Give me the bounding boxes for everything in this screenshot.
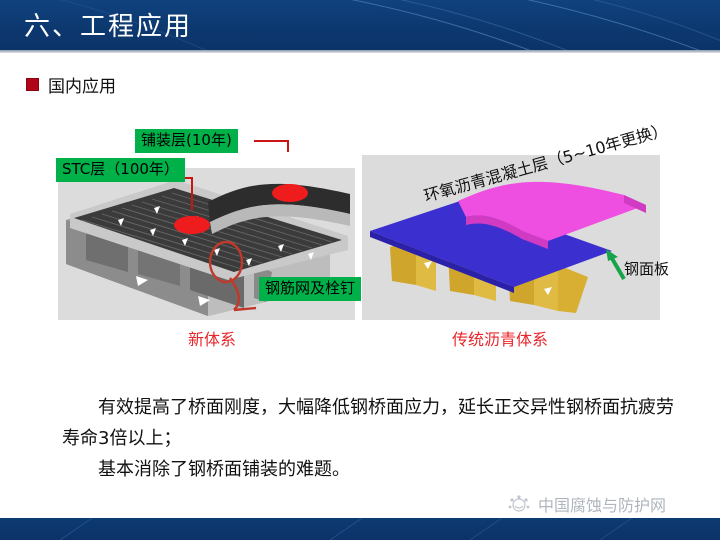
label-paving-layer: 铺装层(10年) [135,129,238,153]
slide-footer-bar [0,518,720,540]
watermark: 中国腐蚀与防护网 [506,492,666,516]
slide-header: 六、工程应用 [0,0,720,50]
bullet-item-domestic-application: 国内应用 [26,72,116,97]
label-rebar-and-stud: 钢筋网及栓钉 [259,277,361,301]
caption-traditional-system: 传统沥青体系 [452,326,548,350]
watermark-text: 中国腐蚀与防护网 [538,492,666,516]
bullet-item-label: 国内应用 [48,72,116,97]
label-steel-deck-plate: 钢面板 [624,258,669,279]
body-paragraph-1: 有效提高了桥面刚度，大幅降低钢桥面应力，延长正交异性钢桥面抗疲劳寿命3倍以上； [62,392,682,454]
body-paragraph-2: 基本消除了钢桥面铺装的难题。 [62,454,682,485]
page-title: 六、工程应用 [24,6,192,43]
body-text: 有效提高了桥面刚度，大幅降低钢桥面应力，延长正交异性钢桥面抗疲劳寿命3倍以上； … [62,392,682,485]
label-stc-layer: STC层（100年） [56,158,185,182]
header-divider [0,50,720,53]
caption-new-system: 新体系 [188,326,236,350]
footer-decorative-lines [0,518,720,540]
watermark-logo-icon [506,494,532,514]
square-bullet-icon [26,78,39,91]
